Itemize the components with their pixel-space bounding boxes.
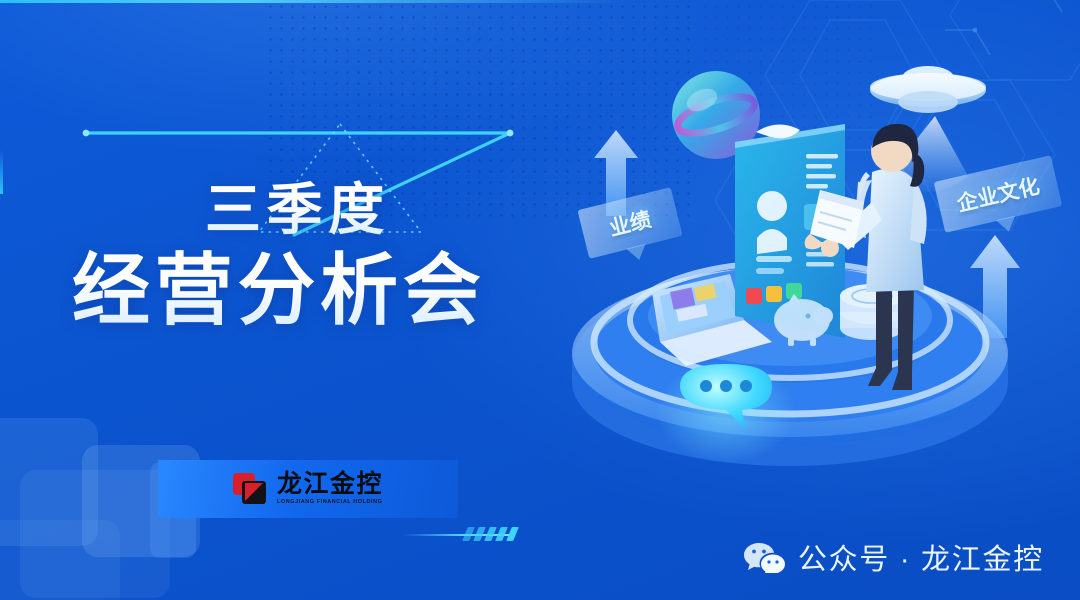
hero-illustration: 业绩 企业文化 [520,20,1080,490]
logo-name-en: LONGJIANG FINANCIAL HOLDING [277,500,383,506]
title-line-2: 经营分析会 [72,244,560,336]
wechat-icon [743,541,785,573]
diagonal-hash-marks [465,527,516,541]
logo-text: 龙江金控 LONGJIANG FINANCIAL HOLDING [277,472,383,506]
poster-canvas: 三季度 经营分析会 [0,0,1080,600]
title-line-1: 三季度 [205,178,560,242]
logo-name-cn: 龙江金控 [277,472,383,497]
left-glow-line [0,150,3,194]
company-logo: 龙江金控 LONGJIANG FINANCIAL HOLDING [158,460,458,518]
logo-mark-icon [233,473,267,505]
chat-bubble [656,360,796,464]
wechat-label: 公众号 · 龙江金控 [798,536,1044,578]
wechat-footer: 公众号 · 龙江金控 [743,536,1044,578]
logo-mark-diagonal [245,483,263,501]
top-glow-line [0,0,1080,3]
page-title: 三季度 经营分析会 [90,178,560,336]
coin-stack [840,284,904,340]
